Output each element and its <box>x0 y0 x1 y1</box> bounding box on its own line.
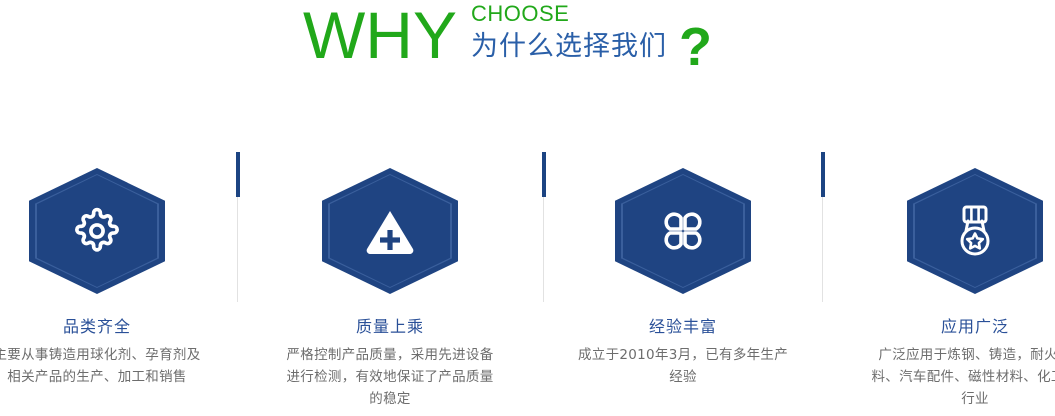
medal-icon <box>907 168 1043 294</box>
heading-chinese-subtitle: 为什么选择我们 <box>471 30 667 64</box>
heading-question-mark: ? <box>679 20 712 74</box>
heading-why-word: WHY <box>303 2 457 68</box>
card-title: 应用广泛 <box>860 317 1055 337</box>
feature-cards-row: 品类齐全 主要从事铸造用球化剂、孕育剂及相关产品的生产、加工和销售 质量上乘 严… <box>0 150 1055 416</box>
card-description: 严格控制产品质量，采用先进设备进行检测，有效地保证了产品质量的稳定 <box>275 344 505 410</box>
section-heading: WHY CHOOSE 为什么选择我们 ? <box>0 0 1055 100</box>
card-description: 成立于2010年3月，已有多年生产经验 <box>568 344 798 388</box>
hexagon-badge <box>322 168 458 294</box>
feature-card[interactable]: 应用广泛 广泛应用于炼钢、铸造，耐火材料、汽车配件、磁性材料、化工等行业 <box>860 150 1055 410</box>
hexagon-badge <box>29 168 165 294</box>
card-title: 经验丰富 <box>568 317 798 337</box>
card-description: 主要从事铸造用球化剂、孕育剂及相关产品的生产、加工和销售 <box>0 344 212 388</box>
why-choose-us-section: WHY CHOOSE 为什么选择我们 ? <box>0 0 1055 416</box>
card-title: 质量上乘 <box>275 317 505 337</box>
heading-inner: WHY CHOOSE 为什么选择我们 ? <box>303 0 712 74</box>
feature-card[interactable]: 质量上乘 严格控制产品质量，采用先进设备进行检测，有效地保证了产品质量的稳定 <box>275 150 505 410</box>
hexagon-badge <box>907 168 1043 294</box>
gear-icon <box>29 168 165 294</box>
card-title: 品类齐全 <box>0 317 212 337</box>
heading-text-stack: CHOOSE 为什么选择我们 <box>471 2 667 64</box>
heading-choose-word: CHOOSE <box>471 2 667 26</box>
clover-icon <box>615 168 751 294</box>
card-description: 广泛应用于炼钢、铸造，耐火材料、汽车配件、磁性材料、化工等行业 <box>860 344 1055 410</box>
triangle-plus-icon <box>322 168 458 294</box>
feature-card[interactable]: 品类齐全 主要从事铸造用球化剂、孕育剂及相关产品的生产、加工和销售 <box>0 150 212 388</box>
feature-card[interactable]: 经验丰富 成立于2010年3月，已有多年生产经验 <box>568 150 798 388</box>
hexagon-badge <box>615 168 751 294</box>
